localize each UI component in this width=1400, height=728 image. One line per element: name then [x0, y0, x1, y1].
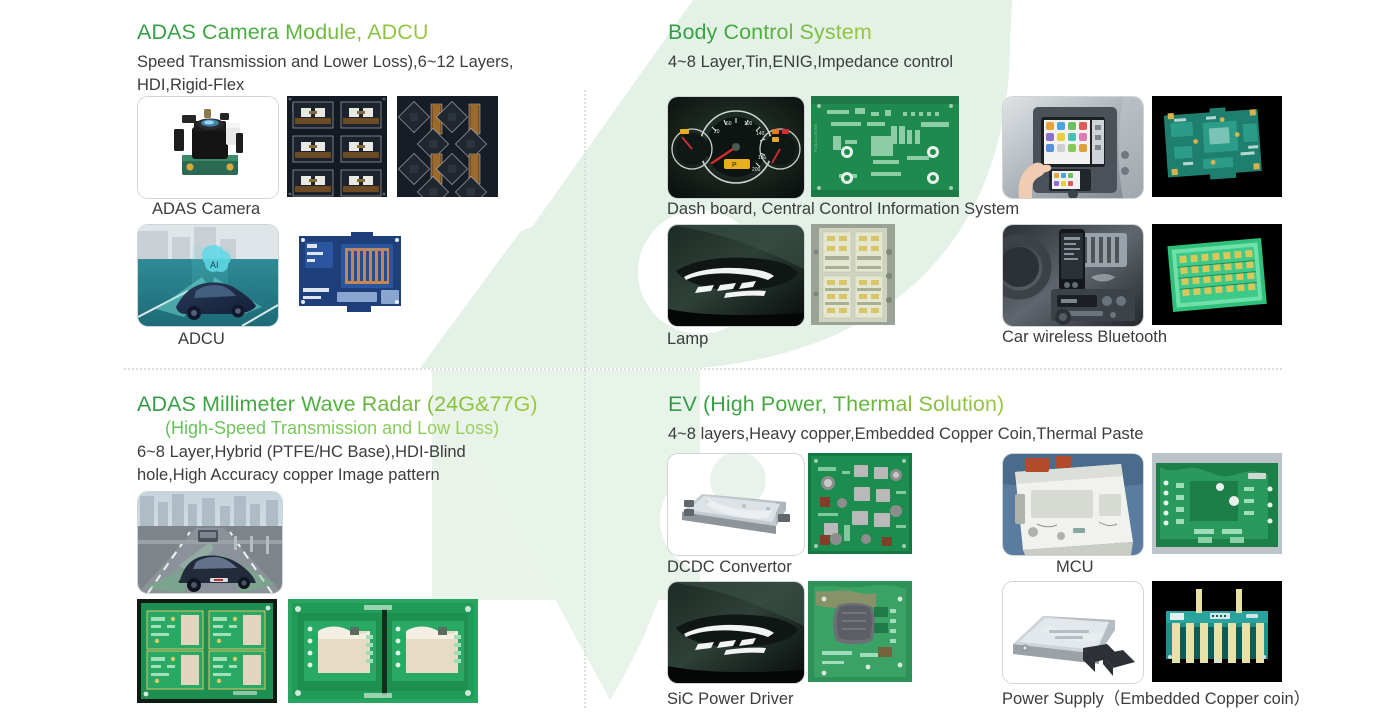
thumb-radar-road-scene — [137, 491, 283, 594]
caption-adcu: ADCU — [178, 330, 225, 350]
caption-lamp: Lamp — [667, 330, 708, 350]
thumb-phone-cradle-photo — [1002, 224, 1144, 327]
quadrant-title: EV (High Power, Thermal Solution) — [668, 392, 1004, 417]
thumb-center-console-touchscreen — [1002, 96, 1144, 199]
quadrant-title: ADAS Millimeter Wave Radar (24G&77G) — [137, 392, 538, 417]
thumb-headlamp-photo — [667, 224, 805, 327]
quadrant-ev-high-power: EV (High Power, Thermal Solution) 4~8 la… — [584, 368, 1400, 728]
thumb-mcu-photo — [1002, 453, 1144, 556]
caption-car-wireless-bluetooth: Car wireless Bluetooth — [1002, 328, 1167, 348]
caption-dcdc-convertor: DCDC Convertor — [667, 558, 792, 578]
svg-text:140: 140 — [756, 131, 765, 137]
caption-power-supply: Power Supply（Embedded Copper coin） — [1002, 690, 1310, 710]
quadrant-subtitle: (High-Speed Transmission and Low Loss) — [165, 418, 499, 440]
caption-mcu: MCU — [1056, 558, 1094, 578]
thumb-copper-coin-pcb — [1152, 581, 1282, 682]
quadrant-title: Body Control System — [668, 20, 872, 45]
svg-text:P: P — [732, 162, 737, 169]
svg-text:PCB-CLUSTER: PCB-CLUSTER — [813, 124, 818, 152]
thumb-bluetooth-pcb-array — [1152, 224, 1282, 325]
thumb-power-supply-photo — [1002, 581, 1144, 684]
caption-sic-power-driver: SiC Power Driver — [667, 690, 794, 710]
thumb-infotainment-pcb — [1152, 96, 1282, 197]
thumb-cluster-pcb: PCB-CLUSTER — [811, 96, 959, 197]
svg-text:20: 20 — [714, 129, 720, 135]
svg-text:200: 200 — [752, 167, 761, 173]
quadrant-description: 6~8 Layer,Hybrid (PTFE/HC Base),HDI-Blin… — [137, 441, 507, 487]
thumb-led-lamp-pcb-panel — [811, 224, 895, 325]
quadrant-description: 4~8 layers,Heavy copper,Embedded Copper … — [668, 423, 1144, 446]
thumb-sic-headlamp-photo — [667, 581, 805, 684]
thumb-adas-camera-module-photo — [137, 96, 279, 199]
svg-text:60: 60 — [726, 121, 732, 127]
caption-adas-camera: ADAS Camera — [152, 200, 260, 220]
quadrant-adas-camera-module: ADAS Camera Module, ADCU Speed Transmiss… — [0, 0, 584, 368]
thumb-instrument-cluster-photo: 2060100 140180200 P — [667, 96, 805, 199]
thumb-mcu-pcb — [1152, 453, 1282, 554]
quadrant-body-control-system: Body Control System 4~8 Layer,Tin,ENIG,I… — [584, 0, 1400, 368]
thumb-rigid-flex-panel-a — [287, 96, 387, 197]
thumb-sic-power-pcb — [808, 581, 912, 682]
caption-dash-board: Dash board, Central Control Information … — [667, 200, 1019, 220]
thumb-adcu-car-ai-illustration: AI — [137, 224, 279, 327]
thumb-adcu-board — [293, 228, 407, 320]
slide-canvas: ADAS Camera Module, ADCU Speed Transmiss… — [0, 0, 1400, 728]
thumb-dcdc-convertor-photo — [667, 453, 805, 556]
svg-text:AI: AI — [210, 260, 219, 270]
thumb-radar-pcb-panel-2up — [288, 599, 478, 703]
quadrant-description: 4~8 Layer,Tin,ENIG,Impedance control — [668, 51, 953, 74]
thumb-rigid-flex-panel-b — [397, 96, 498, 197]
svg-text:100: 100 — [744, 121, 753, 127]
quadrant-description: Speed Transmission and Lower Loss),6~12 … — [137, 51, 557, 97]
thumb-dcdc-pcb — [808, 453, 912, 554]
thumb-radar-pcb-panel-4up — [137, 599, 277, 703]
quadrant-title: ADAS Camera Module, ADCU — [137, 20, 429, 45]
